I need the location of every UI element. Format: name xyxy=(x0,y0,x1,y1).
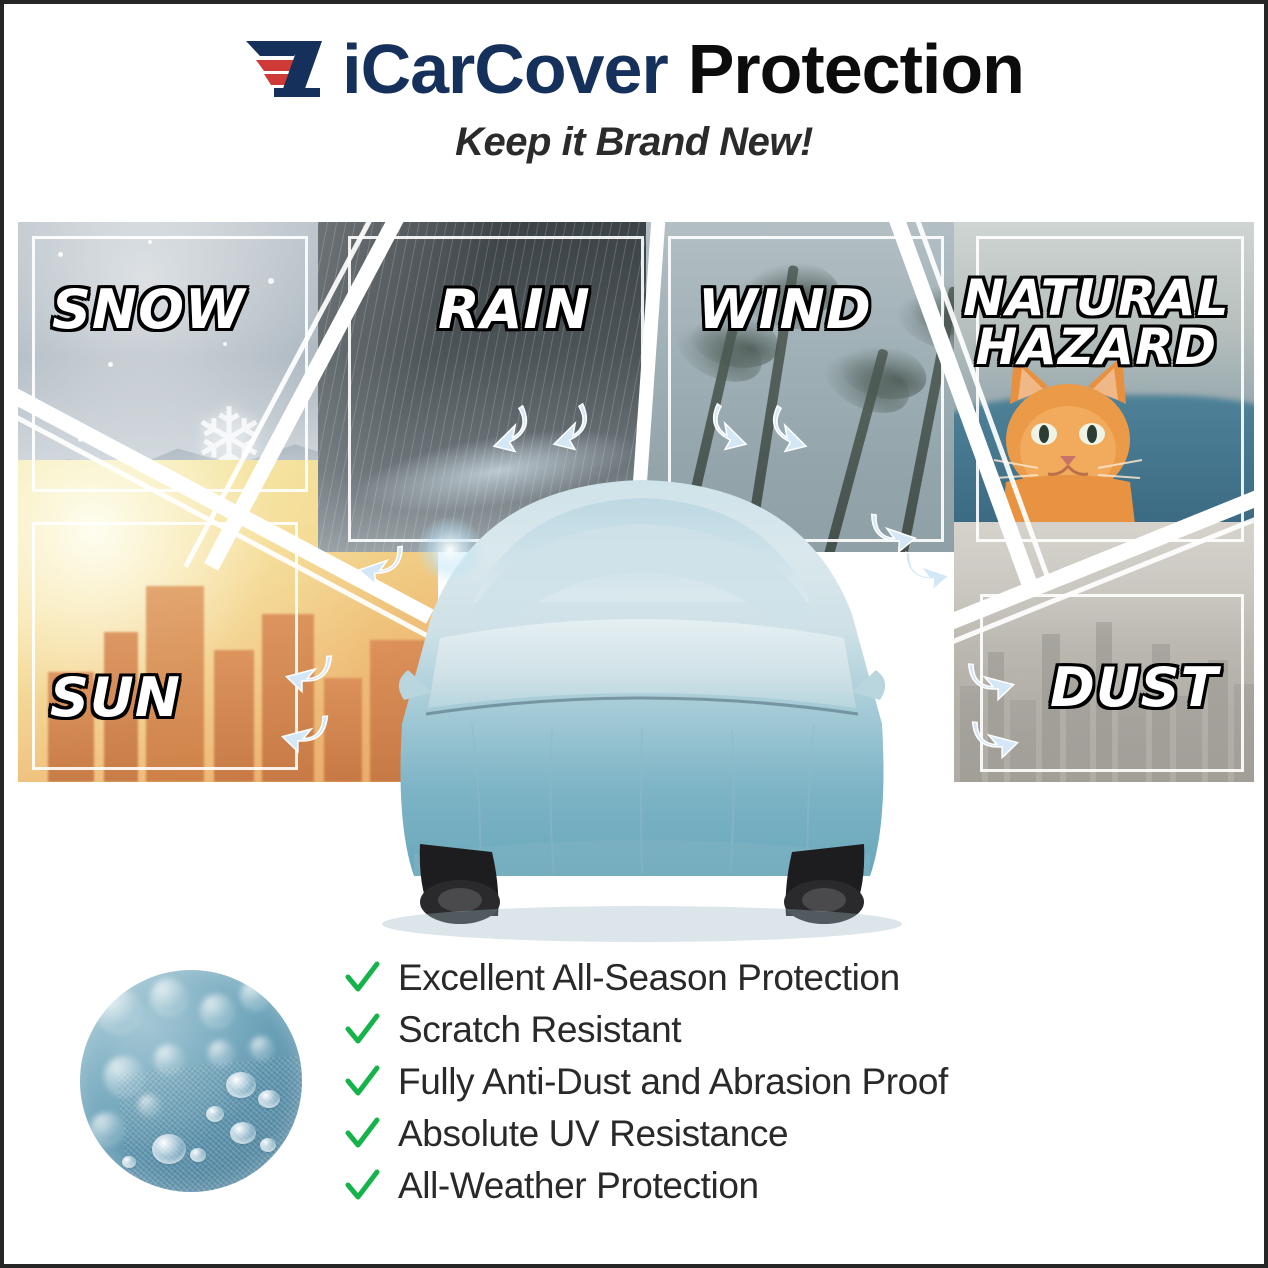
feature-list: Excellent All-Season Protection Scratch … xyxy=(344,952,1204,1212)
feature-label: Absolute UV Resistance xyxy=(398,1113,788,1155)
covered-car-image xyxy=(322,424,962,964)
brand-title-row: iCarCover Protection xyxy=(4,26,1264,112)
green-checkmark-icon xyxy=(344,960,380,996)
green-checkmark-icon xyxy=(344,1012,380,1048)
green-checkmark-icon xyxy=(344,1064,380,1100)
brand-name-primary: iCarCover xyxy=(342,34,668,104)
car-cover-illustration xyxy=(322,424,962,964)
dust-haze xyxy=(954,522,1254,782)
feature-label: All-Weather Protection xyxy=(398,1165,759,1207)
feature-item: Absolute UV Resistance xyxy=(344,1108,1204,1160)
header: iCarCover Protection Keep it Brand New! xyxy=(4,26,1264,165)
feature-label: Scratch Resistant xyxy=(398,1009,681,1051)
product-infographic: iCarCover Protection Keep it Brand New! … xyxy=(0,0,1268,1268)
cat-icon xyxy=(978,342,1158,532)
icarcover-logo-icon xyxy=(244,38,340,100)
fabric-weave-texture xyxy=(117,1053,302,1192)
feature-item: Fully Anti-Dust and Abrasion Proof xyxy=(344,1056,1204,1108)
feature-item: All-Weather Protection xyxy=(344,1160,1204,1212)
brand-name-secondary: Protection xyxy=(688,34,1024,104)
green-checkmark-icon xyxy=(344,1116,380,1152)
feature-label: Fully Anti-Dust and Abrasion Proof xyxy=(398,1061,948,1103)
panel-dust xyxy=(954,522,1254,782)
feature-item: Scratch Resistant xyxy=(344,1004,1204,1056)
tagline: Keep it Brand New! xyxy=(4,120,1264,165)
fabric-swatch xyxy=(66,956,316,1206)
fabric-swatch-image xyxy=(80,970,302,1192)
green-checkmark-icon xyxy=(344,1168,380,1204)
